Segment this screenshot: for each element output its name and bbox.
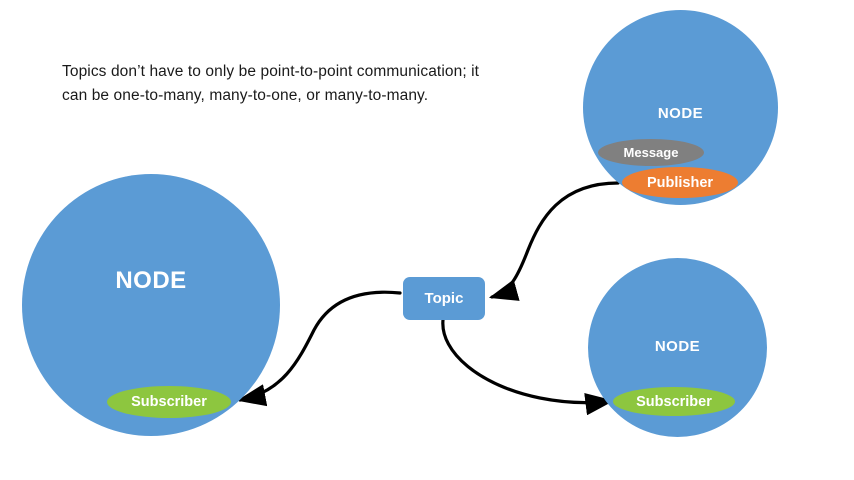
edge-topic-to-subscriber-right — [443, 320, 611, 403]
diagram-canvas: Topics don’t have to only be point-to-po… — [0, 0, 854, 480]
caption-text: Topics don’t have to only be point-to-po… — [62, 60, 482, 107]
pill-publisher-label: Publisher — [647, 175, 713, 191]
edge-publisher-to-topic — [492, 183, 618, 297]
pill-subscriber-left[interactable]: Subscriber — [107, 386, 231, 418]
pill-publisher[interactable]: Publisher — [622, 167, 738, 198]
node-label-left: NODE — [22, 267, 280, 295]
pill-message-label: Message — [624, 145, 679, 160]
pill-subscriber-right-label: Subscriber — [636, 394, 712, 410]
topic-box-label: Topic — [425, 290, 464, 307]
node-label-bottomright: NODE — [588, 338, 767, 355]
node-label-topright: NODE — [583, 105, 778, 122]
pill-subscriber-left-label: Subscriber — [131, 394, 207, 410]
pill-subscriber-right[interactable]: Subscriber — [613, 387, 735, 416]
pill-message[interactable]: Message — [598, 139, 704, 166]
topic-box[interactable]: Topic — [403, 277, 485, 320]
